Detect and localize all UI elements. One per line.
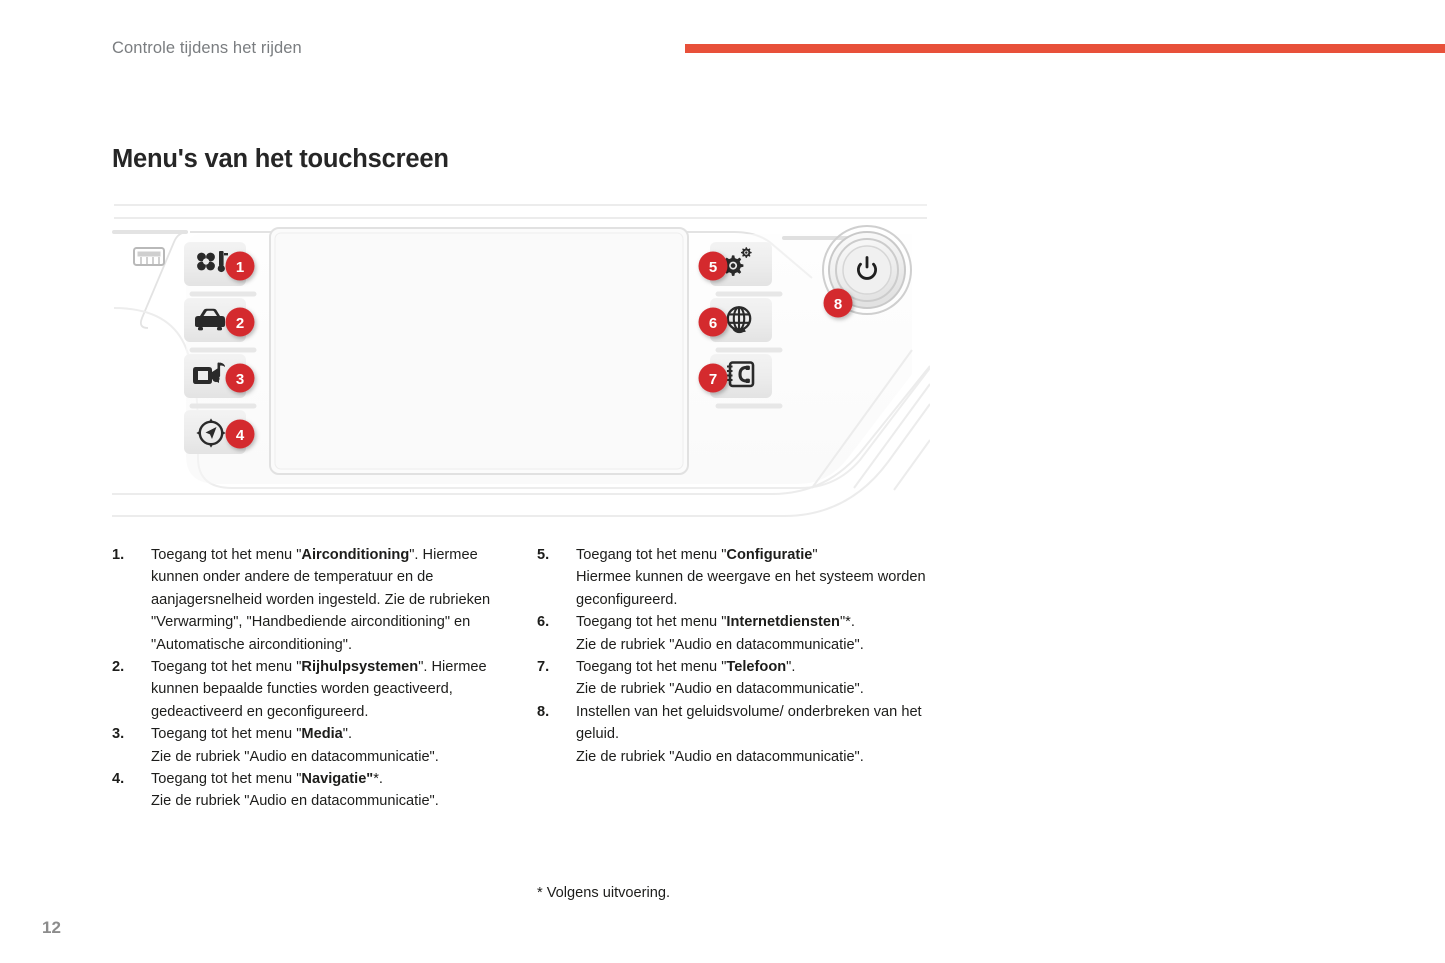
- svg-text:7: 7: [709, 371, 717, 388]
- list-item: 7. Toegang tot het menu "Telefoon".Zie d…: [537, 656, 937, 701]
- list-item: 8. Instellen van het geluidsvolume/ onde…: [537, 701, 937, 768]
- list-item-text: Toegang tot het menu "Internetdiensten"*…: [576, 611, 937, 656]
- list-item-text: Toegang tot het menu "Configuratie"Hierm…: [576, 544, 937, 611]
- svg-text:4: 4: [236, 427, 245, 444]
- list-item: 1. Toegang tot het menu "Airconditioning…: [112, 544, 512, 656]
- page-title: Menu's van het touchscreen: [112, 145, 449, 174]
- list-item-text: Instellen van het geluidsvolume/ onderbr…: [576, 701, 937, 768]
- svg-text:2: 2: [236, 315, 244, 332]
- legend-column-left: 1. Toegang tot het menu "Airconditioning…: [112, 544, 512, 813]
- header-red-rule: [685, 44, 1445, 53]
- svg-text:3: 3: [236, 371, 244, 388]
- list-item-text: Toegang tot het menu "Rijhulpsystemen". …: [151, 656, 512, 723]
- list-item-number: 8.: [537, 701, 549, 723]
- list-item-number: 3.: [112, 723, 124, 745]
- badge-7: 7: [699, 364, 728, 393]
- list-item: 5. Toegang tot het menu "Configuratie"Hi…: [537, 544, 937, 611]
- badge-4: 4: [226, 420, 255, 449]
- touchscreen-display: [270, 228, 688, 474]
- badge-2: 2: [226, 308, 255, 337]
- list-item-number: 1.: [112, 544, 124, 566]
- list-item-number: 6.: [537, 611, 549, 633]
- svg-text:1: 1: [236, 259, 244, 276]
- list-item: 3. Toegang tot het menu "Media".Zie de r…: [112, 723, 512, 768]
- list-item-text: Toegang tot het menu "Telefoon".Zie de r…: [576, 656, 937, 701]
- page-number: 12: [42, 918, 61, 938]
- legend-column-right: 5. Toegang tot het menu "Configuratie"Hi…: [537, 544, 937, 768]
- page-header: Controle tijdens het rijden: [0, 0, 1445, 80]
- svg-text:6: 6: [709, 315, 717, 332]
- air-vent-grille-icon: [134, 248, 164, 265]
- list-item: 2. Toegang tot het menu "Rijhulpsystemen…: [112, 656, 512, 723]
- list-item: 6. Toegang tot het menu "Internetdienste…: [537, 611, 937, 656]
- badge-5: 5: [699, 252, 728, 281]
- list-item-number: 2.: [112, 656, 124, 678]
- badge-8: 8: [824, 289, 853, 318]
- touchscreen-dashboard-illustration: 1 2 3 4 5 6 7 8: [112, 198, 930, 530]
- svg-text:8: 8: [834, 296, 842, 313]
- list-item-text: Toegang tot het menu "Navigatie"*.Zie de…: [151, 768, 512, 813]
- list-item-text: Toegang tot het menu "Airconditioning". …: [151, 544, 512, 656]
- badge-1: 1: [226, 252, 255, 281]
- list-item: 4. Toegang tot het menu "Navigatie"*.Zie…: [112, 768, 512, 813]
- header-title: Controle tijdens het rijden: [112, 39, 302, 58]
- svg-text:5: 5: [709, 259, 717, 276]
- list-item-number: 5.: [537, 544, 549, 566]
- footnote: * Volgens uitvoering.: [537, 885, 670, 901]
- badge-6: 6: [699, 308, 728, 337]
- list-item-text: Toegang tot het menu "Media".Zie de rubr…: [151, 723, 512, 768]
- dashboard-trim-lines: [114, 205, 927, 218]
- list-item-number: 7.: [537, 656, 549, 678]
- list-item-number: 4.: [112, 768, 124, 790]
- badge-3: 3: [226, 364, 255, 393]
